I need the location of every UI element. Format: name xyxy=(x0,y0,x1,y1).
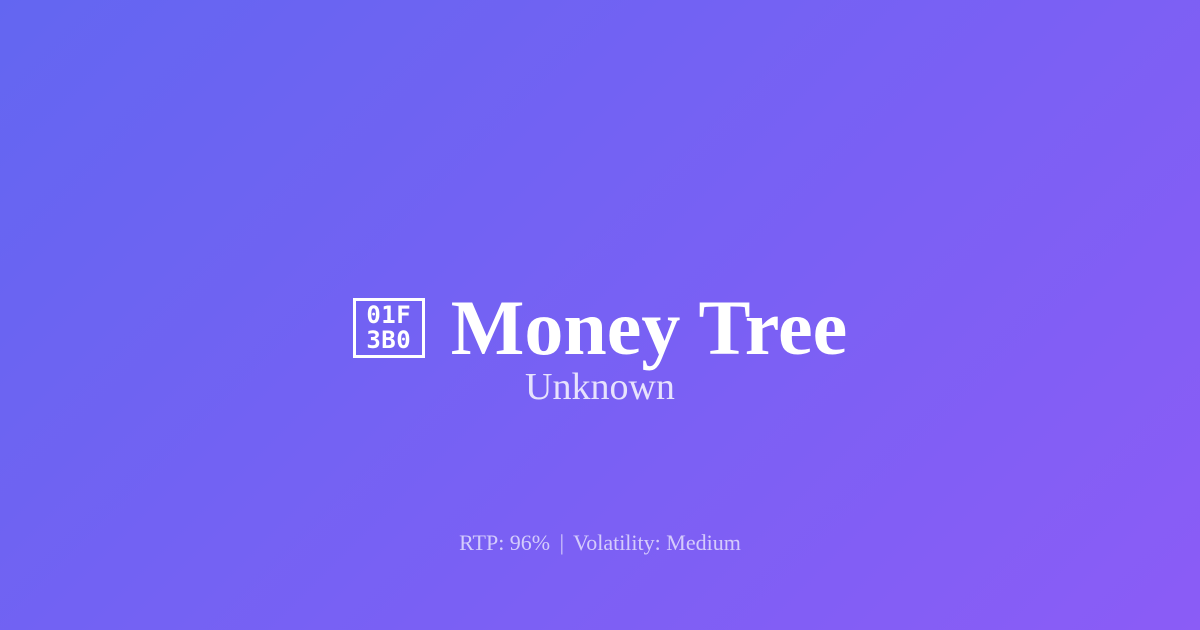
game-og-card: 01F 3B0 Money Tree Unknown RTP: 96% | Vo… xyxy=(0,0,1200,630)
tofu-codepoint-bottom: 3B0 xyxy=(366,328,411,353)
slot-machine-icon: 01F 3B0 xyxy=(353,298,425,358)
game-provider-subtitle: Unknown xyxy=(0,363,1200,411)
page-title: Money Tree xyxy=(451,280,847,376)
tofu-codepoint-top: 01F xyxy=(366,303,411,328)
rtp-label: RTP: 96% xyxy=(459,530,550,555)
meta-separator: | xyxy=(556,530,568,555)
volatility-label: Volatility: Medium xyxy=(573,530,741,555)
game-meta-line: RTP: 96% | Volatility: Medium xyxy=(0,528,1200,558)
